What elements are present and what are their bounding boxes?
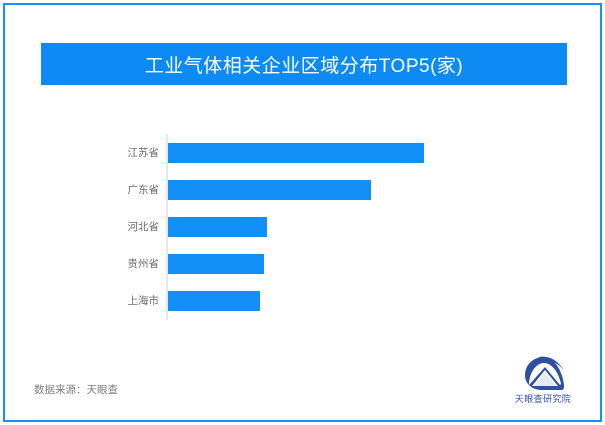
data-source-note: 数据来源：天眼查 (34, 382, 118, 397)
bar-row: 广东省 (5, 180, 604, 200)
brand-name: 天眼查研究院 (505, 392, 581, 405)
bar-row: 河北省 (5, 217, 604, 237)
tianyancha-eye-arch-logo-icon (523, 353, 565, 391)
bar-row: 贵州省 (5, 254, 604, 274)
page-title: 工业气体相关企业区域分布TOP5(家) (145, 51, 463, 78)
category-label-jiangsu: 江苏省 (65, 143, 159, 163)
chart-title-banner: 工业气体相关企业区域分布TOP5(家) (41, 43, 567, 85)
bar-chart-plot-area: 江苏省 广东省 河北省 贵州省 上海市 (5, 130, 604, 325)
category-label-hebei: 河北省 (65, 217, 159, 237)
bar-hebei (168, 217, 267, 237)
infographic-card: 工业气体相关企业区域分布TOP5(家) 江苏省 广东省 河北省 贵州省 上海市 … (3, 3, 602, 422)
brand-logo: 天眼查研究院 (505, 353, 581, 411)
bar-guizhou (168, 254, 264, 274)
bar-guangdong (168, 180, 371, 200)
bar-shanghai (168, 291, 260, 311)
bar-row: 江苏省 (5, 143, 604, 163)
bar-row: 上海市 (5, 291, 604, 311)
bar-jiangsu (168, 143, 424, 163)
category-label-guangdong: 广东省 (65, 180, 159, 200)
category-label-guizhou: 贵州省 (65, 254, 159, 274)
category-label-shanghai: 上海市 (65, 291, 159, 311)
